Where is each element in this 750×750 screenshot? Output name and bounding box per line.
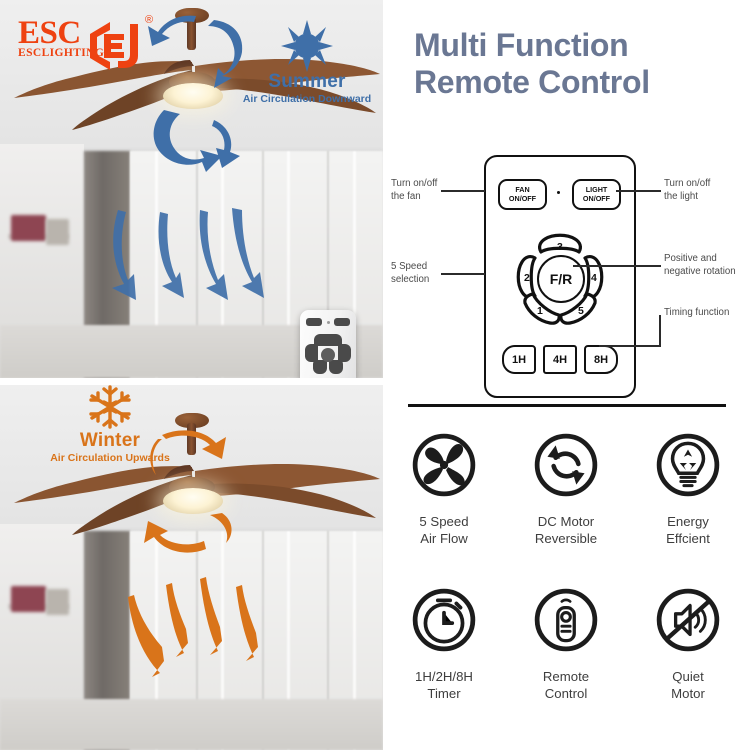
timer-1h-button[interactable]: 1H	[502, 345, 536, 374]
feature-label: DC Motor Reversible	[505, 513, 627, 548]
fan-onoff-button[interactable]: FAN ON/OFF	[498, 179, 547, 210]
feature-label: Energy Effcient	[627, 513, 749, 548]
brand-logo: ESC ESCLIGHTING ®	[18, 18, 104, 59]
panel-summer: Summer Air Circulation Downward ESC ESCL…	[0, 0, 383, 378]
callout-light-onoff: Turn on/off the light	[664, 178, 744, 204]
speed-label-1: 1	[537, 305, 543, 317]
season-name: Winter	[25, 431, 195, 451]
timer-8h-label: 8H	[594, 354, 608, 366]
callout-fan-onoff: Turn on/off the fan	[391, 178, 451, 204]
feature-remote-control: Remote Control	[505, 587, 627, 703]
feature-label: 5 Speed Air Flow	[383, 513, 505, 548]
page-title: Multi Function Remote Control	[414, 27, 744, 101]
callout-line2: the fan	[391, 191, 451, 204]
remote-diagram: FAN ON/OFF LIGHT ON/OFF	[383, 143, 750, 405]
speed-label-5: 5	[578, 305, 584, 317]
feature-label-line2: Control	[505, 685, 627, 702]
registered-mark: ®	[145, 14, 153, 26]
timer-8h-button[interactable]: 8H	[584, 345, 618, 374]
callout-line1: Turn on/off	[391, 178, 451, 191]
speed-label-3: 3	[557, 241, 563, 253]
sun-icon	[278, 20, 336, 72]
season-badge-summer: Summer Air Circulation Downward	[222, 20, 383, 106]
fan-icon	[411, 432, 477, 498]
feature-label-line1: Quiet	[627, 668, 749, 685]
leader-line-light	[616, 190, 661, 192]
section-divider	[408, 404, 726, 407]
feature-5-speed-air-flow: 5 Speed Air Flow	[383, 432, 505, 548]
stopwatch-icon	[411, 587, 477, 653]
fr-label: F/R	[550, 271, 573, 287]
snowflake-icon	[83, 385, 137, 431]
remote-body: FAN ON/OFF LIGHT ON/OFF	[484, 155, 636, 398]
feature-label-line1: Energy	[627, 513, 749, 530]
callout-line1: Positive and	[664, 253, 748, 266]
logo-mark-icon	[80, 20, 148, 70]
panel-winter: Winter Air Circulation Upwards	[0, 385, 383, 750]
timer-4h-button[interactable]: 4H	[543, 345, 577, 374]
feature-label: 1H/2H/8H Timer	[383, 668, 505, 703]
fan-button-line2: ON/OFF	[509, 195, 536, 203]
light-button-line2: ON/OFF	[583, 195, 610, 203]
feature-grid: 5 Speed Air Flow DC Motor Rever	[383, 432, 750, 732]
feature-label-line2: Effcient	[627, 530, 749, 547]
callout-line1: Turn on/off	[664, 178, 744, 191]
feature-quiet-motor: Quiet Motor	[627, 587, 749, 703]
left-photo-column: Summer Air Circulation Downward ESC ESCL…	[0, 0, 383, 750]
right-content-column: Multi Function Remote Control FAN ON/OFF…	[383, 0, 750, 750]
feature-energy-efficient: Energy Effcient	[627, 432, 749, 548]
feature-label-line1: Remote	[505, 668, 627, 685]
title-line-1: Multi Function	[414, 27, 744, 64]
leader-line-timing-h	[599, 345, 661, 347]
speed-label-4: 4	[591, 272, 597, 284]
callout-line2: selection	[391, 274, 451, 287]
title-line-2: Remote Control	[414, 64, 744, 101]
callout-line2: negative rotation	[664, 266, 748, 279]
leader-line-timing-v	[659, 315, 661, 347]
timer-4h-label: 4H	[553, 354, 567, 366]
feature-label-line2: Timer	[383, 685, 505, 702]
feature-label: Remote Control	[505, 668, 627, 703]
feature-label-line2: Reversible	[505, 530, 627, 547]
feature-label-line1: 1H/2H/8H	[383, 668, 505, 685]
feature-label: Quiet Motor	[627, 668, 749, 703]
callout-line2: the light	[664, 191, 744, 204]
callout-timing: Timing function	[664, 307, 750, 320]
ir-led-indicator	[557, 191, 560, 194]
timer-1h-label: 1H	[512, 354, 526, 366]
forward-reverse-button[interactable]: F/R	[537, 255, 585, 303]
mute-icon	[655, 587, 721, 653]
speed-label-2: 2	[524, 272, 530, 284]
feature-timer: 1H/2H/8H Timer	[383, 587, 505, 703]
callout-line1: 5 Speed	[391, 261, 451, 274]
feature-label-line2: Air Flow	[383, 530, 505, 547]
feature-label-line1: 5 Speed	[383, 513, 505, 530]
reversible-icon	[533, 432, 599, 498]
season-badge-winter: Winter Air Circulation Upwards	[25, 385, 195, 465]
feature-label-line1: DC Motor	[505, 513, 627, 530]
remote-icon	[533, 587, 599, 653]
season-caption: Air Circulation Upwards	[25, 452, 195, 465]
season-name: Summer	[222, 72, 383, 92]
physical-remote-photo	[300, 310, 356, 378]
light-onoff-button[interactable]: LIGHT ON/OFF	[572, 179, 621, 210]
season-caption: Air Circulation Downward	[222, 93, 383, 106]
bulb-eco-icon	[655, 432, 721, 498]
leader-line-rotation	[573, 265, 661, 267]
infographic-root: Summer Air Circulation Downward ESC ESCL…	[0, 0, 750, 750]
callout-line1: Timing function	[664, 307, 750, 320]
feature-dc-motor-reversible: DC Motor Reversible	[505, 432, 627, 548]
callout-rotation: Positive and negative rotation	[664, 253, 748, 279]
feature-label-line2: Motor	[627, 685, 749, 702]
callout-speed-selection: 5 Speed selection	[391, 261, 451, 287]
